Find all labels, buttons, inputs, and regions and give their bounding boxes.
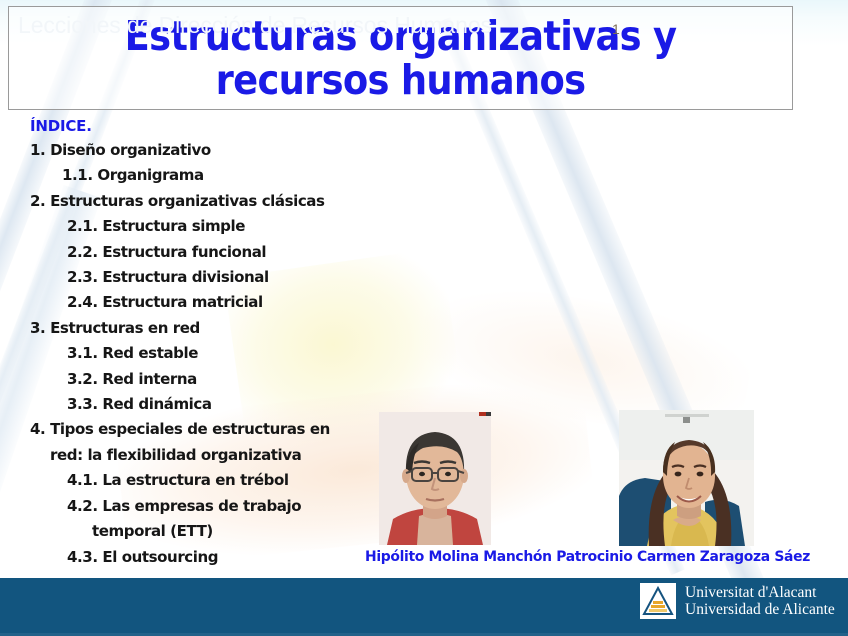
list-item: 2.4. Estructura matricial	[67, 290, 400, 315]
list-item: 4.3. El outsourcing	[67, 545, 400, 570]
mountain-triangle-icon	[640, 583, 676, 619]
index-heading: ÍNDICE.	[30, 117, 410, 135]
author-photo-right	[619, 410, 754, 546]
list-item: 3.3. Red dinámica	[67, 392, 400, 417]
list-item: 4.1. La estructura en trébol	[67, 468, 400, 493]
list-item: 3.2. Red interna	[67, 367, 400, 392]
footer-title: Lecciones de Dirección de Recursos Human…	[18, 12, 492, 39]
index-block: ÍNDICE. 1. Diseño organizativo 1.1. Orga…	[30, 117, 410, 570]
list-item: 2. Estructuras organizativas clásicas	[30, 189, 399, 214]
university-name-valencian: Universitat d'Alacant	[685, 584, 835, 601]
university-logo: Universitat d'Alacant Universidad de Ali…	[640, 583, 835, 619]
page-number: 1	[612, 21, 620, 37]
list-item: 2.1. Estructura simple	[67, 214, 400, 239]
list-item: temporal (ETT)	[92, 519, 400, 544]
list-item: 4.2. Las empresas de trabajo	[67, 494, 400, 519]
list-item: 1. Diseño organizativo	[30, 138, 399, 163]
list-item: 3.1. Red estable	[67, 341, 400, 366]
list-item: 4. Tipos especiales de estructuras en	[30, 417, 399, 442]
slide: Estructuras organizativas y recursos hum…	[0, 0, 848, 636]
list-item: 2.3. Estructura divisional	[67, 265, 400, 290]
university-name-spanish: Universidad de Alicante	[685, 601, 835, 618]
list-item: 2.2. Estructura funcional	[67, 240, 400, 265]
university-name: Universitat d'Alacant Universidad de Ali…	[685, 584, 835, 618]
author-names: Hipólito Molina Manchón Patrocinio Carme…	[365, 549, 824, 565]
list-item: 3. Estructuras en red	[30, 316, 399, 341]
list-item: red: la flexibilidad organizativa	[50, 443, 399, 468]
author-photo-left	[379, 412, 491, 545]
list-item: 1.1. Organigrama	[62, 163, 400, 188]
